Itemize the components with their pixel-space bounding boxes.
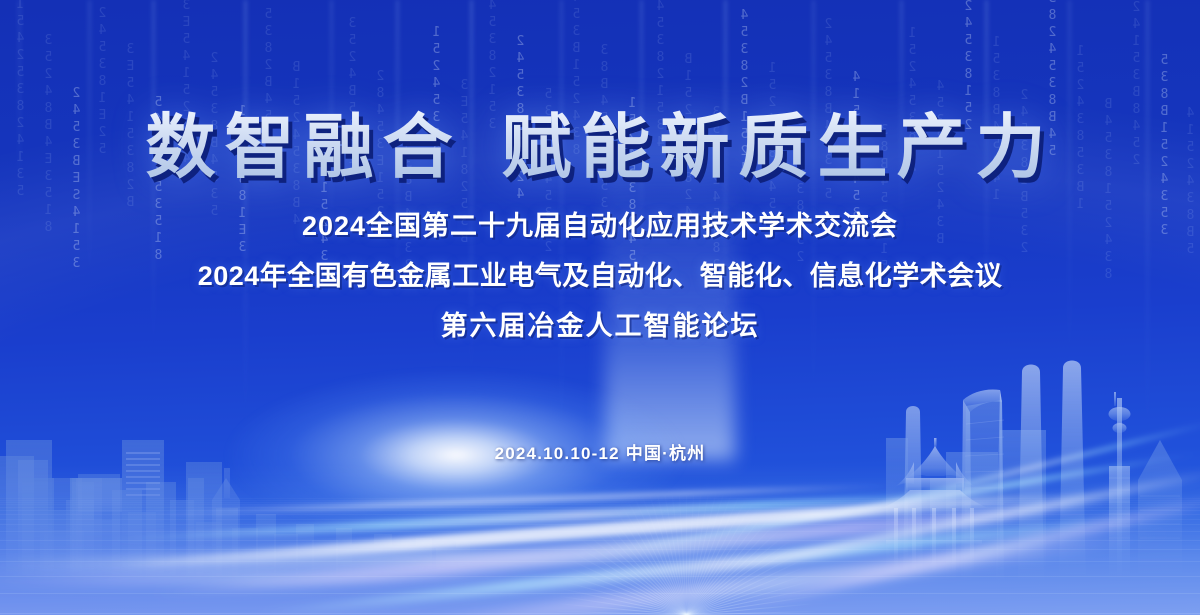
subtitle-line-1: 2024全国第二十九届自动化应用技术学术交流会 [0, 182, 1200, 243]
banner-content: 数智融合赋能新质生产力 2024全国第二十九届自动化应用技术学术交流会 2024… [0, 0, 1200, 464]
conference-banner: 815425382413535248B4E35182453BES41531245… [0, 0, 1200, 615]
subtitle-line-3: 第六届冶金人工智能论坛 [0, 293, 1200, 343]
floor-grid-row [0, 500, 1200, 501]
floor-grid-row [0, 514, 1200, 515]
floor-grid-row [0, 510, 1200, 511]
floor-grid-lines [0, 495, 1200, 615]
subtitle-line-2: 2024年全国有色金属工业电气及自动化、智能化、信息化学术会议 [0, 243, 1200, 293]
perspective-floor [0, 465, 1200, 615]
floor-grid-row [0, 561, 1200, 562]
floor-grid-row [0, 593, 1200, 594]
main-title-part2: 赋能新质生产力 [502, 108, 1055, 186]
floor-grid-row [0, 613, 1200, 614]
floor-grid-row [0, 502, 1200, 503]
main-title: 数智融合赋能新质生产力 [0, 0, 1200, 182]
floor-grid-row [0, 576, 1200, 577]
main-title-part1: 数智融合 [146, 108, 462, 186]
floor-grid-row [0, 524, 1200, 525]
floor-grid-row [0, 504, 1200, 505]
floor-grid-row [0, 507, 1200, 508]
floor-grid-row [0, 531, 1200, 532]
floor-grid-row [0, 540, 1200, 541]
floor-grid-row [0, 519, 1200, 520]
date-location-line: 2024.10.10-12 中国·杭州 [0, 343, 1200, 464]
floor-grid-row [0, 549, 1200, 550]
